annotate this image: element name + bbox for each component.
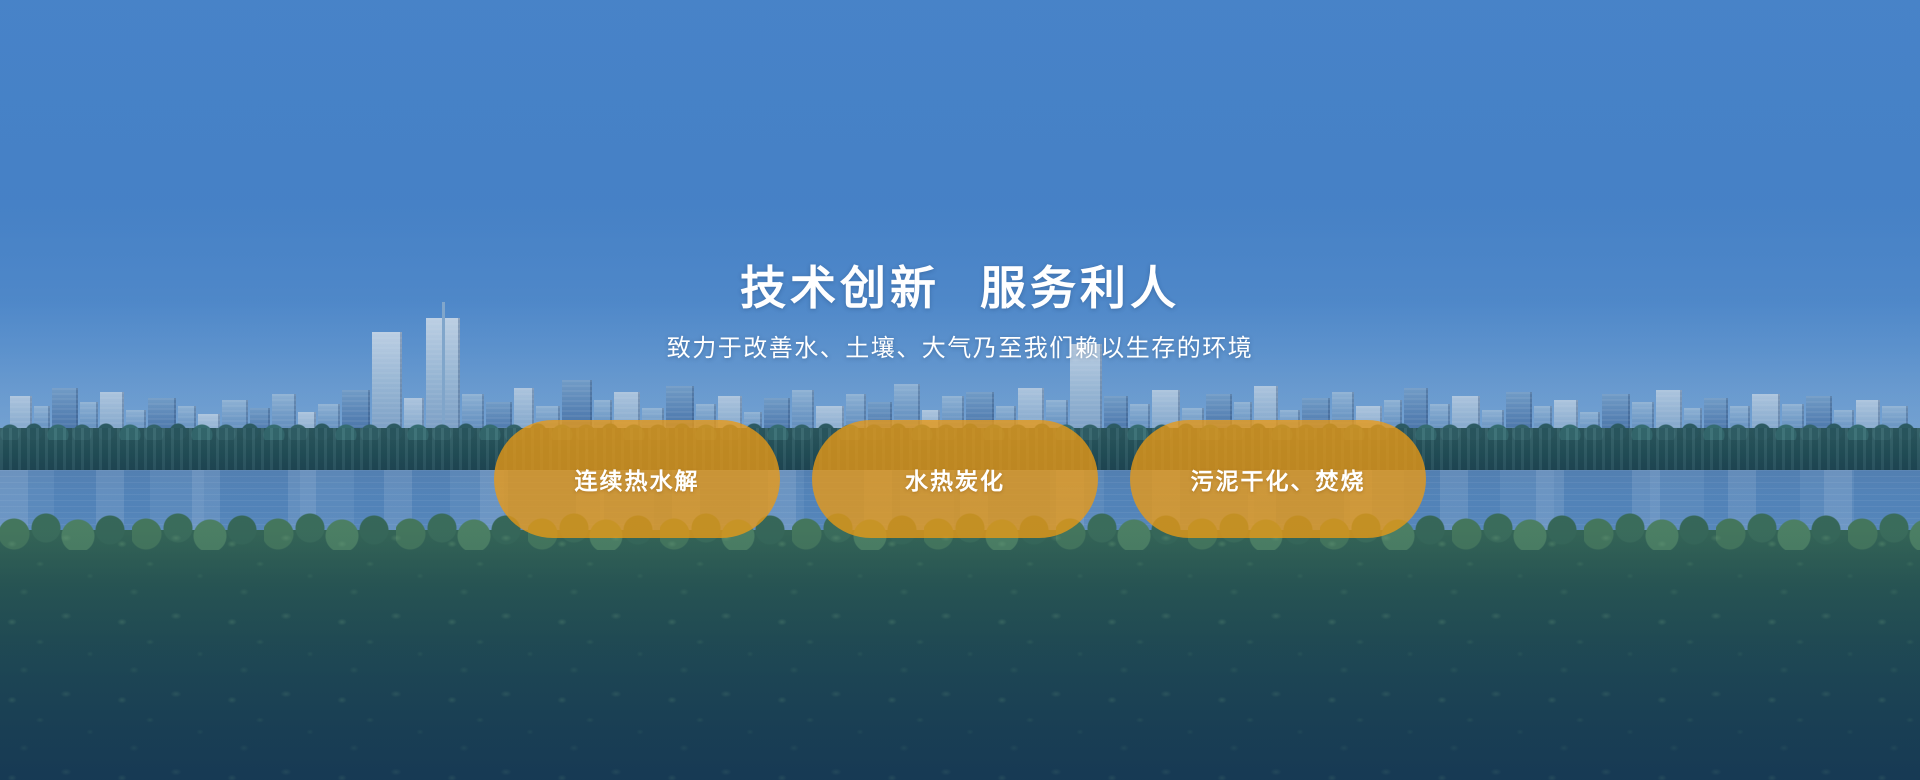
hero-banner: 技术创新 服务利人 致力于改善水、土壤、大气乃至我们赖以生存的环境 连续热水解 … [0,0,1920,780]
hero-content: 技术创新 服务利人 致力于改善水、土壤、大气乃至我们赖以生存的环境 连续热水解 … [0,0,1920,780]
category-button-row: 连续热水解 水热炭化 污泥干化、焚烧 [494,420,1426,538]
page-subtitle: 致力于改善水、土壤、大气乃至我们赖以生存的环境 [667,333,1254,364]
category-button-sludge-drying-incineration[interactable]: 污泥干化、焚烧 [1130,420,1426,538]
page-title: 技术创新 服务利人 [740,262,1180,315]
category-button-thermal-hydrolysis[interactable]: 连续热水解 [494,420,780,538]
category-button-hydrothermal-carbonization[interactable]: 水热炭化 [812,420,1098,538]
